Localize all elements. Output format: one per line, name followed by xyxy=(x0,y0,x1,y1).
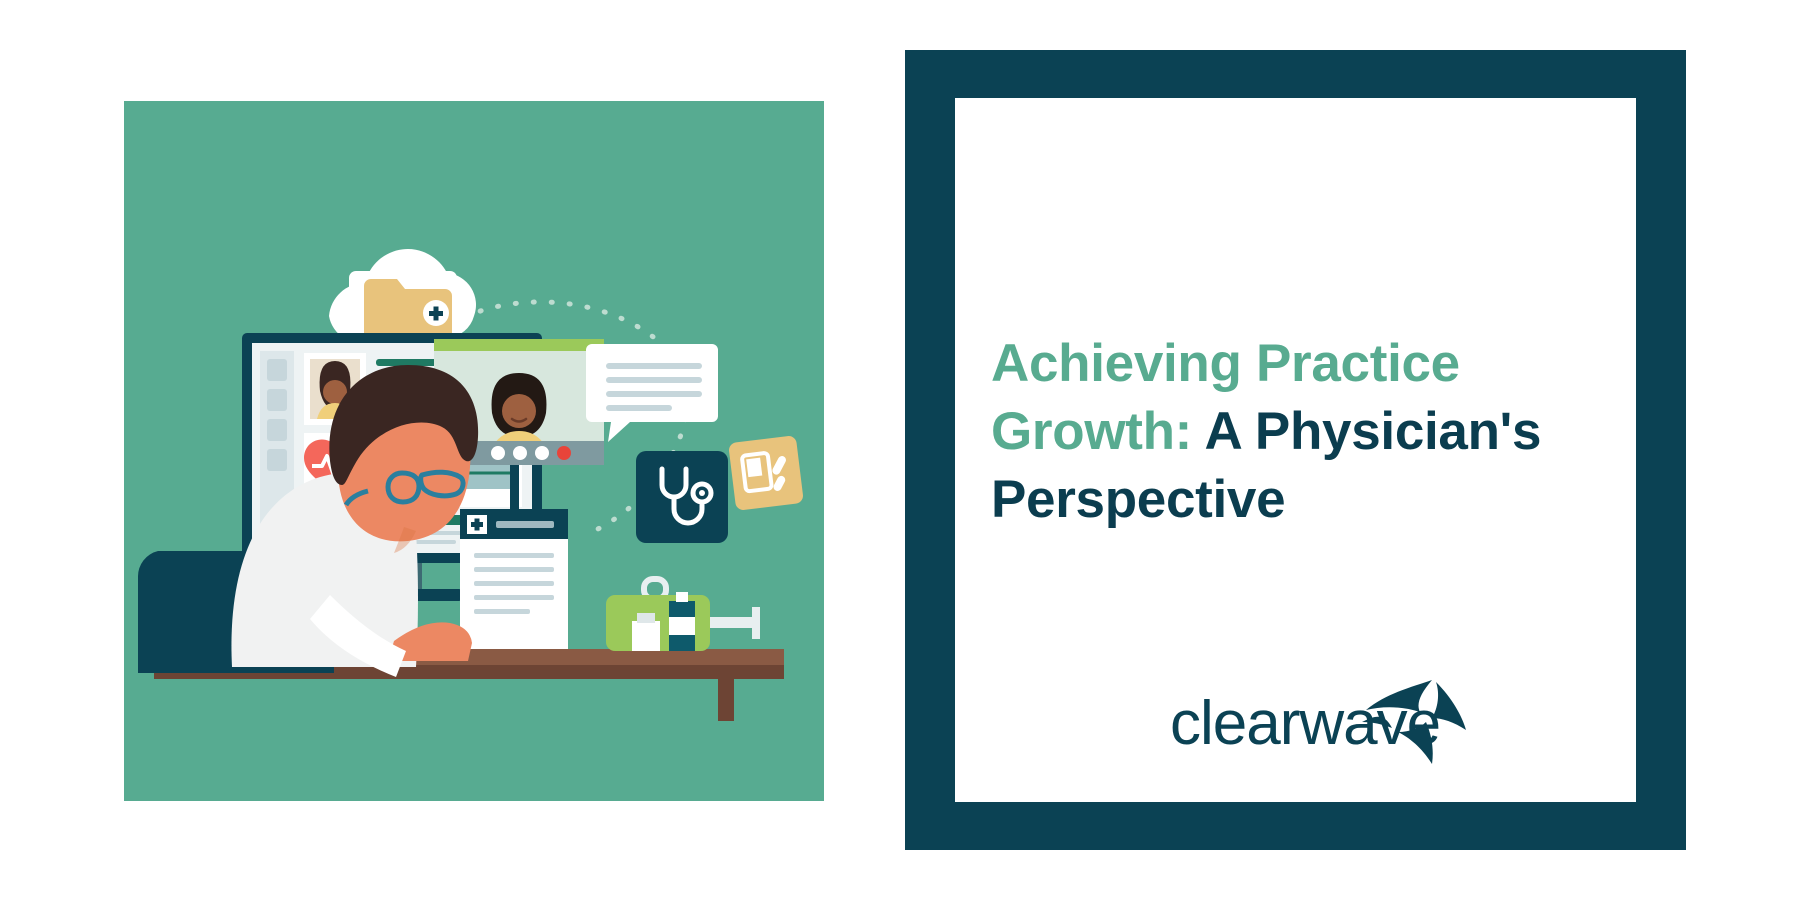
title-line-2: Growth: A Physician's xyxy=(991,398,1631,466)
title-accent-part-1: Achieving Practice xyxy=(991,334,1460,393)
title-dark-part-1: A Physician's xyxy=(1205,402,1542,461)
illustration-panel xyxy=(124,101,824,801)
stethoscope-card xyxy=(636,451,728,543)
clearwave-logo: clearwave xyxy=(1170,672,1470,764)
prescription-clipboard xyxy=(460,509,568,649)
title-line-3: Perspective xyxy=(991,466,1631,534)
title-dark-part-2: Perspective xyxy=(991,470,1285,529)
slide-canvas: Achieving Practice Growth: A Physician's… xyxy=(0,0,1801,901)
title-line-1: Achieving Practice xyxy=(991,330,1631,398)
pill-bottle-card xyxy=(728,435,804,511)
title-accent-part-2: Growth: xyxy=(991,402,1192,461)
clearwave-logo-svg: clearwave xyxy=(1170,672,1470,764)
page-title: Achieving Practice Growth: A Physician's… xyxy=(991,330,1631,533)
doctor-at-computer-telehealth-illustration xyxy=(124,101,824,801)
